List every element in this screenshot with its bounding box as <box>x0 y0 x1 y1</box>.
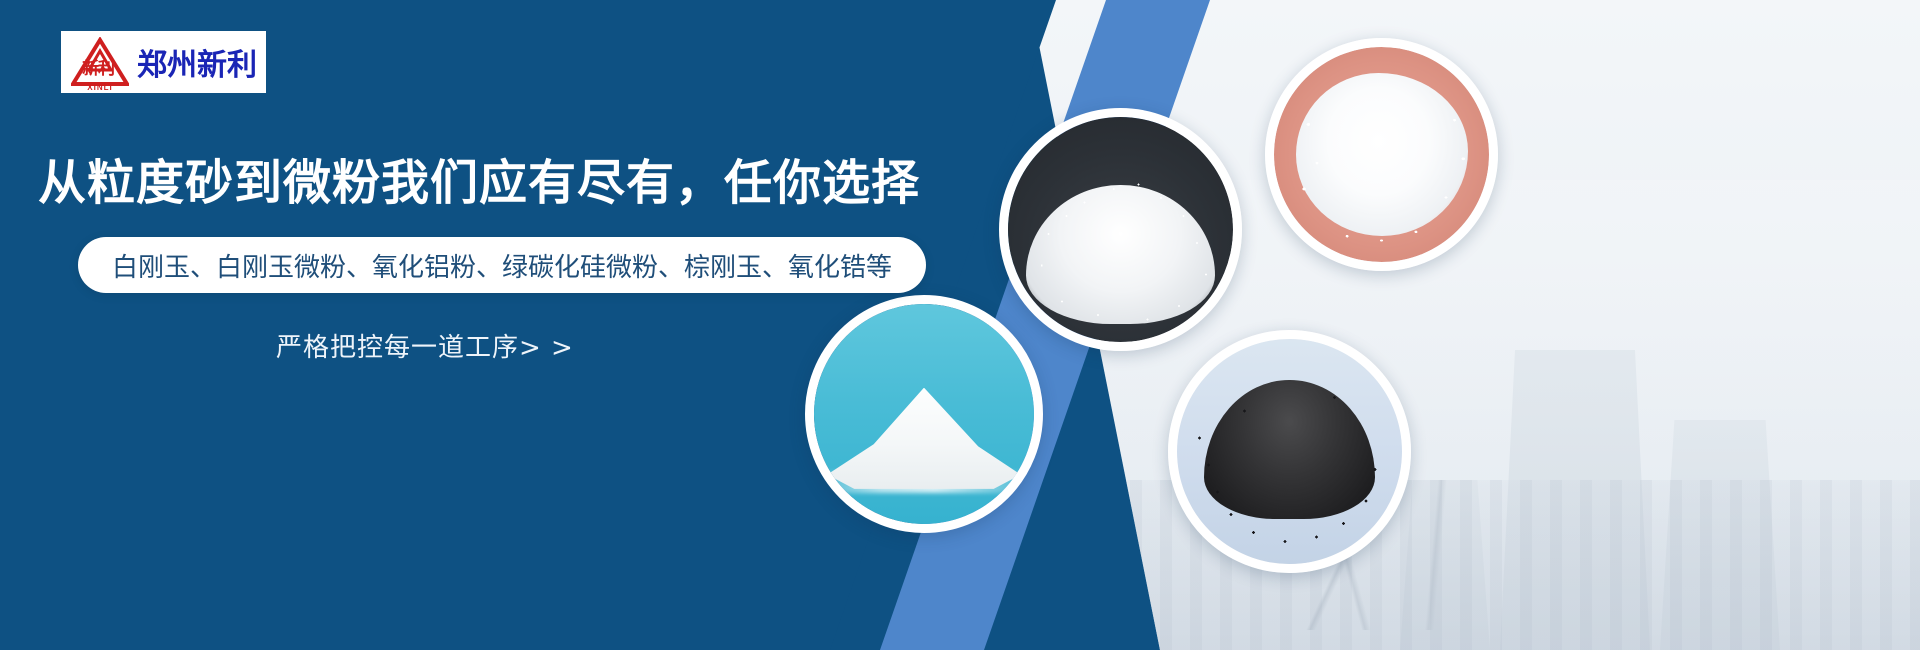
cta-link[interactable]: 严格把控每一道工序> > <box>276 327 574 364</box>
product-list-text: 白刚玉、白刚玉微粉、氧化铝粉、绿碳化硅微粉、棕刚玉、氧化锆等 <box>112 247 892 284</box>
material-grains <box>1177 339 1402 564</box>
product-list-pill: 白刚玉、白刚玉微粉、氧化铝粉、绿碳化硅微粉、棕刚玉、氧化锆等 <box>78 237 926 293</box>
hero-headline: 从粒度砂到微粉我们应有尽有，任你选择 <box>38 143 920 213</box>
material-grains <box>1008 117 1233 342</box>
logo-mark-pinyin: XINLI <box>69 83 131 92</box>
triangle-logo-icon: 新利 XINLI <box>65 33 135 91</box>
product-photo-white-fused-alumina <box>999 108 1242 351</box>
product-photo-white-micro-powder <box>805 295 1043 533</box>
logo-company-name: 郑州新利 <box>135 40 266 84</box>
promotional-banner: 新利 XINLI 郑州新利 从粒度砂到微粉我们应有尽有，任你选择 白刚玉、白刚玉… <box>0 0 1920 650</box>
logo-mark-characters: 新利 <box>71 55 125 83</box>
product-photo-black-silicon-carbide <box>1168 330 1411 573</box>
material-grains <box>1274 47 1489 262</box>
product-photo-alumina-powder <box>1265 38 1498 271</box>
company-logo[interactable]: 新利 XINLI 郑州新利 <box>61 31 266 93</box>
